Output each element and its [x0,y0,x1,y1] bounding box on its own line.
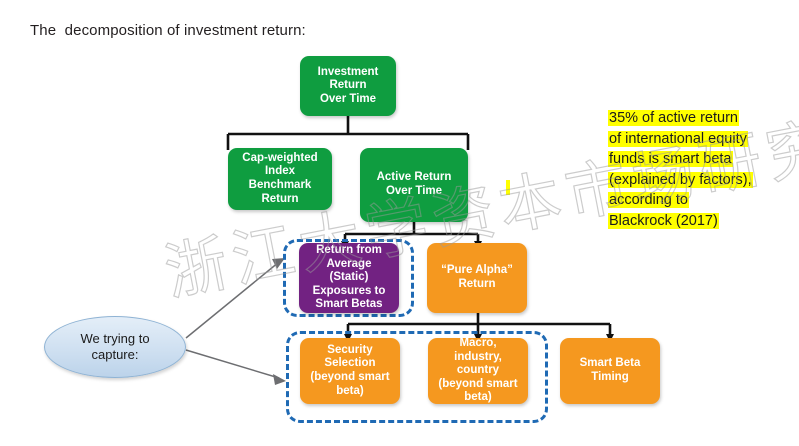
node-cap-weighted-index-benchmark-return[interactable]: Cap-weighted Index Benchmark Return [228,148,332,210]
note-line: 35% of active return [608,108,794,129]
note-line: according to [608,190,794,211]
node-pure-alpha-return[interactable]: “Pure Alpha” Return [427,243,527,313]
note-line: funds is smart beta [608,149,794,170]
node-smart-beta-timing[interactable]: Smart Beta Timing [560,338,660,404]
node-investment-return[interactable]: Investment Return Over Time [300,56,396,116]
node-return-from-average-exposures-to-smart-betas[interactable]: Return from Average (Static) Exposures t… [299,243,399,313]
slide-canvas: The decomposition of investment return: [0,0,799,446]
note-line: of international equity [608,129,794,150]
callout-we-trying-to-capture[interactable]: We trying to capture: [44,316,186,378]
highlight-note: 35% of active return of international eq… [608,108,794,231]
node-macro-industry-country[interactable]: Macro, industry, country (beyond smart b… [428,338,528,404]
node-active-return-over-time[interactable]: Active Return Over Time [360,148,468,222]
yellow-caret-artifact [506,180,510,195]
note-line: Blackrock (2017) [608,211,794,232]
note-line: (explained by factors), [608,170,794,191]
node-security-selection[interactable]: Security Selection (beyond smart beta) [300,338,400,404]
